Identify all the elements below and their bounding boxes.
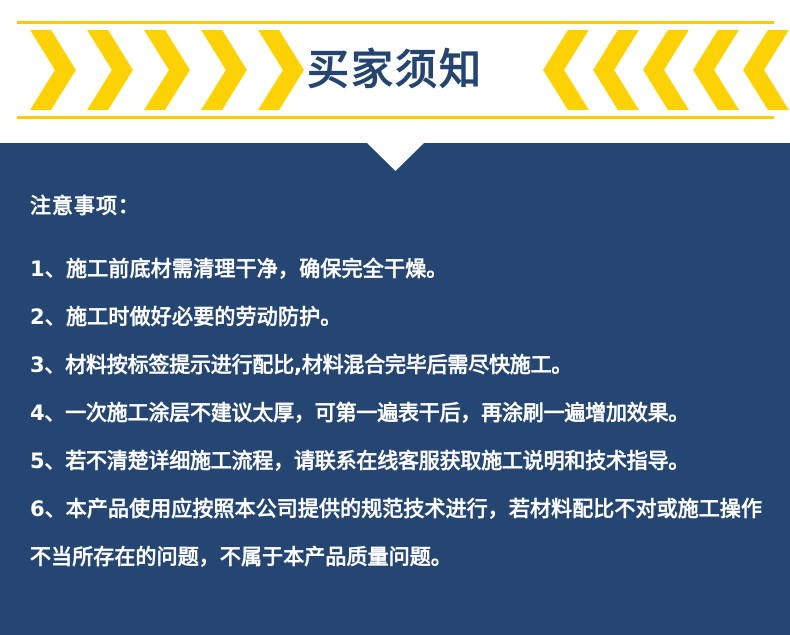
page-title: 买家须知 (0, 31, 790, 109)
note-item: 2、施工时做好必要的劳动防护。 (30, 293, 760, 341)
notes-heading: 注意事项： (30, 191, 760, 221)
notice-panel: 注意事项： 1、施工前底材需清理干净，确保完全干燥。 2、施工时做好必要的劳动防… (0, 143, 790, 635)
note-item: 3、材料按标签提示进行配比,材料混合完毕后需尽快施工。 (30, 341, 760, 389)
note-item: 6、本产品使用应按照本公司提供的规范技术进行，若材料配比不对或施工操作不当所存在… (30, 485, 770, 581)
banner-bottom-rule (17, 116, 774, 119)
header-banner: 买家须知 (0, 0, 790, 143)
banner-top-rule (17, 21, 774, 24)
notice-content: 注意事项： 1、施工前底材需清理干净，确保完全干燥。 2、施工时做好必要的劳动防… (30, 191, 760, 581)
panel-notch-triangle (367, 143, 424, 171)
buyer-notice-page: 买家须知 注意事项： 1、施工前底材需清理干净，确保完全干燥。 2、施工时做好必… (0, 0, 790, 635)
note-item: 1、施工前底材需清理干净，确保完全干燥。 (30, 245, 760, 293)
note-item: 4、一次施工涂层不建议太厚，可第一遍表干后，再涂刷一遍增加效果。 (30, 389, 760, 437)
note-item: 5、若不清楚详细施工流程，请联系在线客服获取施工说明和技术指导。 (30, 437, 760, 485)
